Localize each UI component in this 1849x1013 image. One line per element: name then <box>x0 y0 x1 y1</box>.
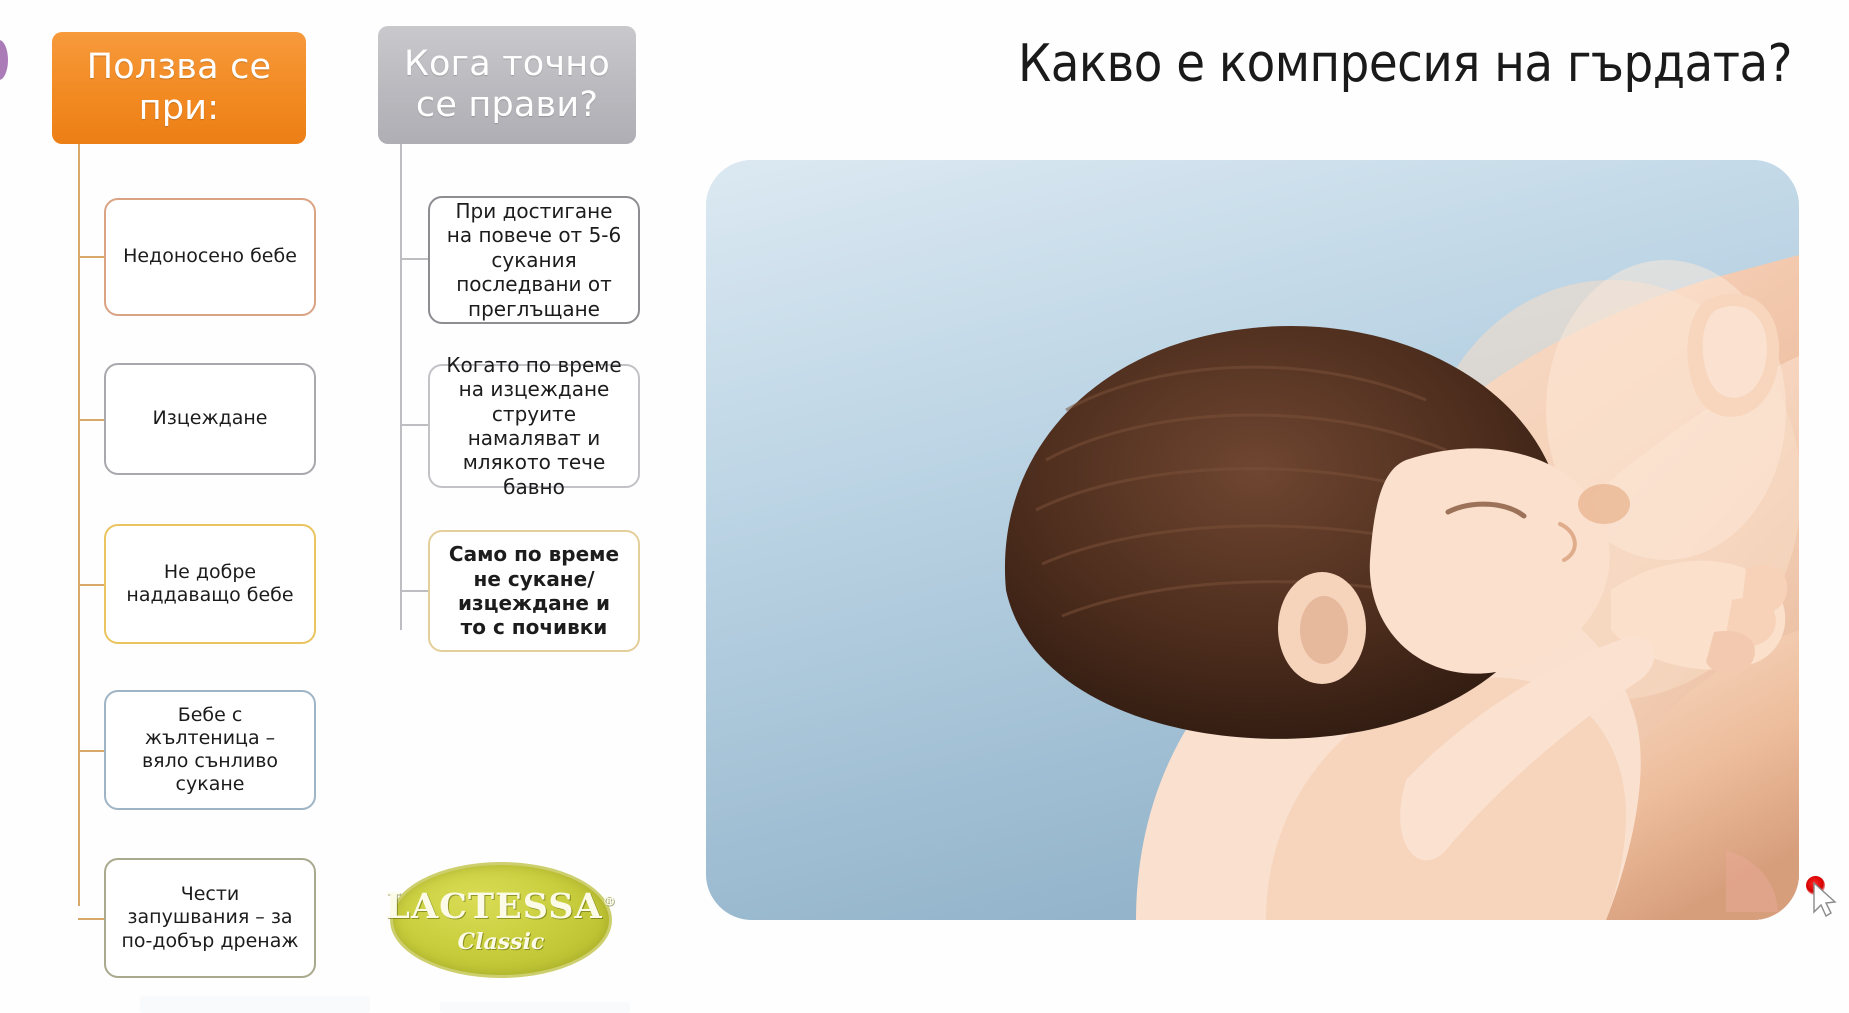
connector-stub <box>400 424 428 426</box>
edge-artifact <box>0 40 8 80</box>
mouse-cursor-icon <box>1812 882 1846 928</box>
column-header-benefit[interactable]: Ползва се при: <box>52 32 306 144</box>
benefit-item-poor-weight-gain[interactable]: Не добре наддаващо бебе <box>104 524 316 644</box>
logo-sub-text: Classic <box>458 929 545 955</box>
connector-stub <box>78 256 104 258</box>
connector-stub <box>400 590 428 592</box>
connector-stub <box>400 258 428 260</box>
connector-stub <box>78 419 104 421</box>
presentation-slide: Ползва се при: Недоносено бебе Изцеждане… <box>0 0 1849 1013</box>
connector-spine-when <box>400 144 402 630</box>
bottom-edge-artifact <box>440 1002 630 1013</box>
benefit-item-expressing[interactable]: Изцеждане <box>104 363 316 475</box>
column-header-when[interactable]: Кога точно се прави? <box>378 26 636 144</box>
connector-spine-benefit <box>78 144 80 906</box>
bottom-edge-artifact <box>140 996 370 1013</box>
logo-oval: LACTESSA® Classic <box>390 862 612 978</box>
benefit-item-blocked-ducts[interactable]: Чести запушвания – за по-добър дренаж <box>104 858 316 978</box>
lactessa-logo: LACTESSA® Classic <box>390 862 612 978</box>
logo-brand-label: LACTESSA <box>385 886 602 927</box>
when-item-flow-slows[interactable]: Когато по време на изцеждане струите нам… <box>428 364 640 488</box>
connector-stub <box>78 584 104 586</box>
logo-brand-text: LACTESSA® <box>385 886 616 927</box>
connector-stub <box>78 918 104 920</box>
benefit-item-preterm-baby[interactable]: Недоносено бебе <box>104 198 316 316</box>
breastfeeding-photo <box>706 160 1799 920</box>
connector-stub <box>78 750 104 752</box>
benefit-item-jaundice[interactable]: Бебе с жълтеница – вяло сънливо сукане <box>104 690 316 810</box>
when-item-only-during-feeding[interactable]: Само по време не сукане/изцеждане и то с… <box>428 530 640 652</box>
registered-mark-icon: ® <box>603 894 617 909</box>
when-item-sucks-swallows[interactable]: При достигане на повече от 5-6 сукания п… <box>428 196 640 324</box>
laser-pointer-cursor <box>1806 876 1840 922</box>
slide-title: Какво е компресия на гърдата? <box>1000 34 1810 94</box>
